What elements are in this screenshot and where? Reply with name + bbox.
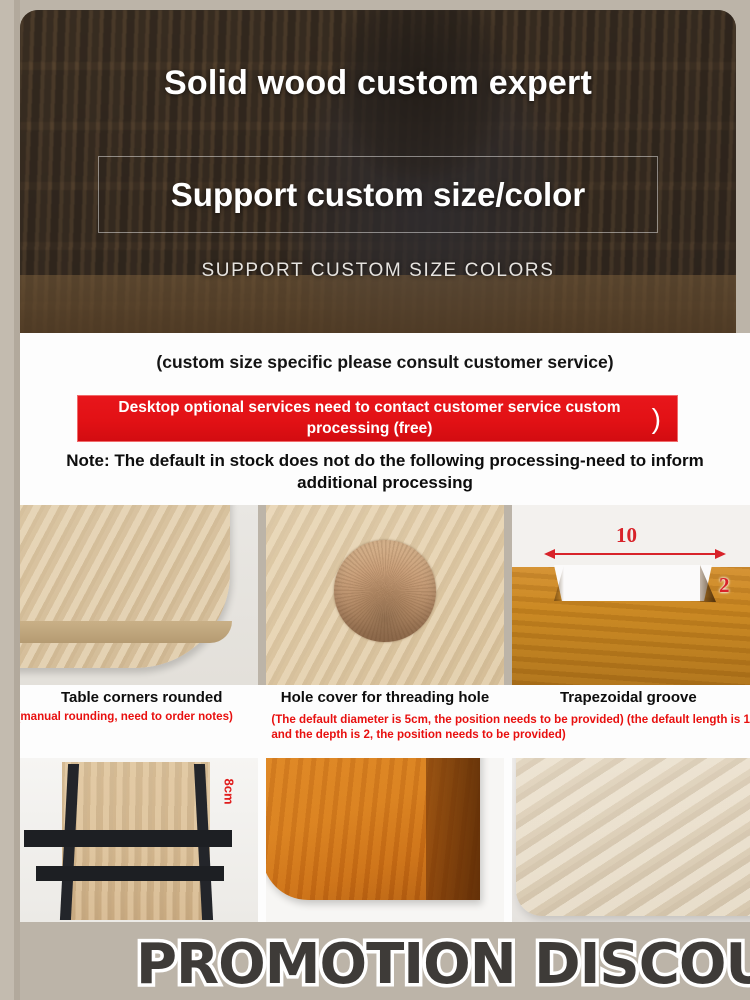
processing-note: Note: The default in stock does not do t… xyxy=(40,450,730,494)
groove-width-label: 10 xyxy=(616,523,637,548)
hero-boxed-title-frame: Support custom size/color xyxy=(98,156,658,233)
feature-image-row: 10 2 xyxy=(20,505,750,685)
light-wood-block-photo xyxy=(512,758,750,922)
left-gutter-shadow xyxy=(14,0,20,1000)
product-detail-page: Solid wood custom expert Support custom … xyxy=(0,0,750,1000)
feature-image-rounded-corner xyxy=(20,505,258,685)
gallery-image-wood-block xyxy=(512,758,750,922)
trapezoidal-groove-photo: 10 2 xyxy=(512,505,750,685)
groove-cut-shape xyxy=(554,565,712,601)
caption-threading-hole: Hole cover for threading hole (The defau… xyxy=(263,685,506,758)
caption-rounded-corner: Table corners rounded (manual rounding, … xyxy=(20,685,263,758)
caption-title: Hole cover for threading hole xyxy=(263,689,506,706)
feature-image-threading-hole xyxy=(266,505,504,685)
custom-processing-banner: Desktop optional services need to contac… xyxy=(77,395,678,442)
rounded-corner-board-photo xyxy=(20,505,258,685)
caption-title: Trapezoidal groove xyxy=(507,689,750,706)
banner-trailing-paren: ) xyxy=(652,403,661,435)
hero-boxed-title: Support custom size/color xyxy=(171,176,585,214)
custom-processing-banner-text: Desktop optional services need to contac… xyxy=(78,398,677,439)
gallery-image-row: 8cm xyxy=(20,758,750,922)
promo-headline: PROMOTION DISCOU xyxy=(136,932,750,997)
caption-title: Table corners rounded xyxy=(20,689,263,706)
leg-crossbar-upper xyxy=(24,830,232,847)
hero-subtitle: SUPPORT CUSTOM SIZE COLORS xyxy=(20,260,736,282)
double-arrow-icon xyxy=(546,553,724,555)
hero-foreground-board xyxy=(20,275,736,333)
hero-banner: Solid wood custom expert Support custom … xyxy=(20,10,736,333)
leg-crossbar-lower xyxy=(36,866,224,881)
caption-trapezoidal-groove: Trapezoidal groove xyxy=(507,685,750,758)
consult-line: (custom size specific please consult cus… xyxy=(20,352,750,373)
groove-depth-label: 2 xyxy=(719,573,730,598)
metal-table-legs-photo: 8cm xyxy=(20,758,258,922)
leg-measurement-label: 8cm xyxy=(221,778,236,804)
info-panel: (custom size specific please consult cus… xyxy=(20,333,750,505)
gallery-image-orange-edge xyxy=(266,758,504,922)
feature-image-trapezoidal-groove: 10 2 xyxy=(512,505,750,685)
feature-captions-row: Table corners rounded (manual rounding, … xyxy=(20,685,750,758)
gallery-image-table-legs: 8cm xyxy=(20,758,258,922)
threading-hole-photo xyxy=(266,505,504,685)
orange-rounded-edge-photo xyxy=(266,758,504,922)
hero-title: Solid wood custom expert xyxy=(20,64,736,103)
promo-footer: PROMOTION DISCOU xyxy=(0,922,750,1000)
caption-detail: (manual rounding, need to order notes) xyxy=(0,710,263,725)
